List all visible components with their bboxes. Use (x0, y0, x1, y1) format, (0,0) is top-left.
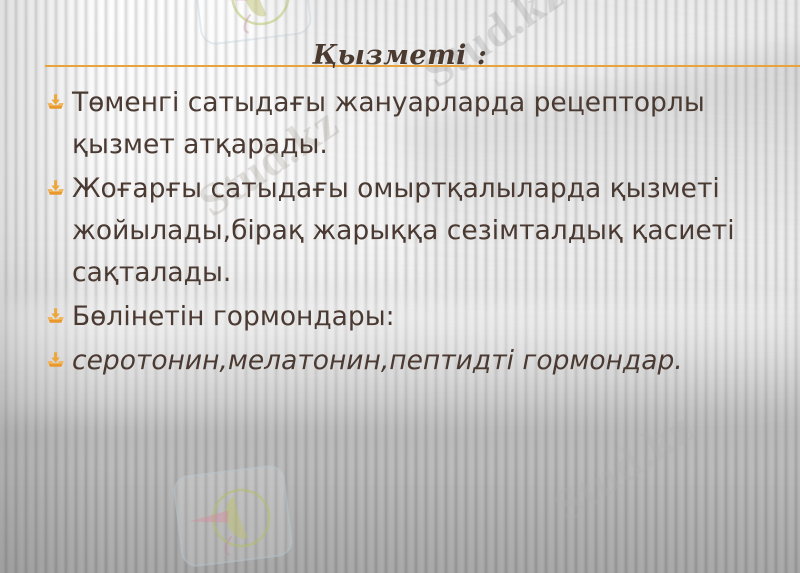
list-item: Жоғарғы сатыдағы омыртқалыларда қызметі … (44, 168, 744, 294)
slide-title: Қызметі : (0, 40, 800, 71)
list-item-text: Жоғарғы сатыдағы омыртқалыларда қызметі … (72, 173, 735, 288)
bullet-list: Төменгі сатыдағы жануарларда рецепторлы … (44, 82, 744, 384)
presentation-slide: Stud.kz Stud.kz Stud.kz Қызметі : Төменг… (0, 0, 800, 573)
hummingbird-logo-icon (172, 464, 294, 569)
download-tray-icon (46, 93, 65, 112)
list-item-text: Төменгі сатыдағы жануарларда рецепторлы … (72, 87, 705, 160)
download-tray-icon (46, 179, 65, 198)
list-item: Бөлінетін гормондары: (44, 296, 744, 338)
list-item-text: серотонин,мелатонин,пептидті гормондар. (72, 345, 683, 376)
list-item-text: Бөлінетін гормондары: (72, 301, 395, 332)
list-item: Төменгі сатыдағы жануарларда рецепторлы … (44, 82, 744, 166)
list-item: серотонин,мелатонин,пептидті гормондар. (44, 340, 744, 382)
download-tray-icon (46, 351, 65, 370)
download-tray-icon (46, 307, 65, 326)
